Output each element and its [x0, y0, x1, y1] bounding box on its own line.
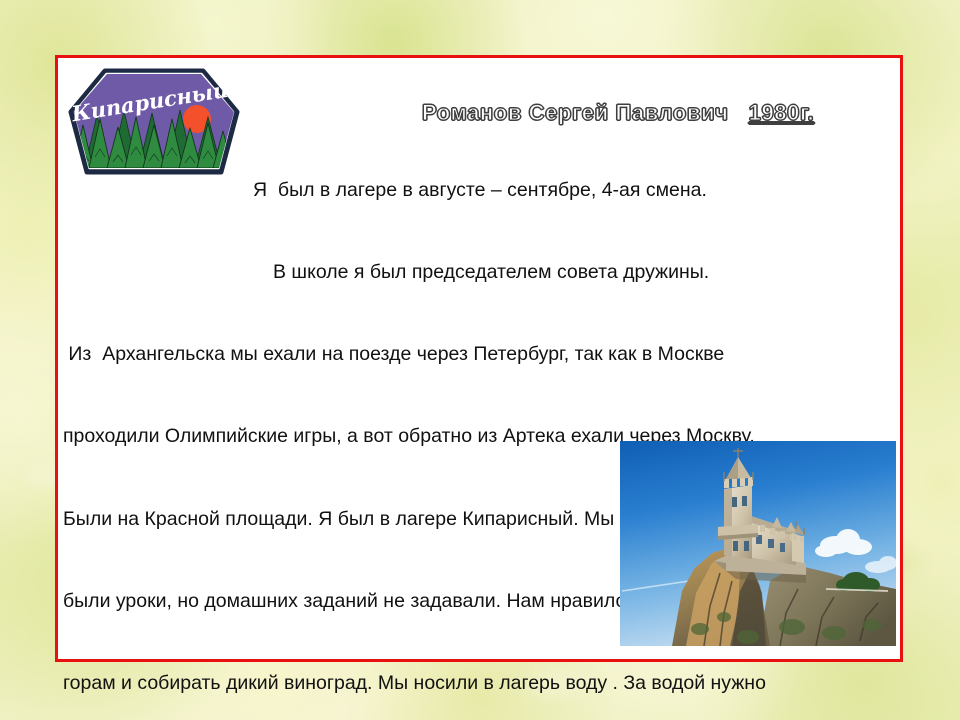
text-line-7: горам и собирать дикий виноград. Мы носи…: [63, 670, 901, 697]
swallows-nest-castle-photo: [620, 441, 896, 646]
text-line-1: Я был в лагере в августе – сентябре, 4-а…: [63, 177, 901, 204]
text-line-3: Из Архангельска мы ехали на поезде через…: [63, 341, 901, 368]
slide-canvas: Кипарисный Романов Сергей Павлович 1980г…: [0, 0, 960, 720]
content-card: Кипарисный Романов Сергей Павлович 1980г…: [55, 55, 903, 662]
text-line-2: В школе я был председателем совета дружи…: [63, 259, 901, 286]
